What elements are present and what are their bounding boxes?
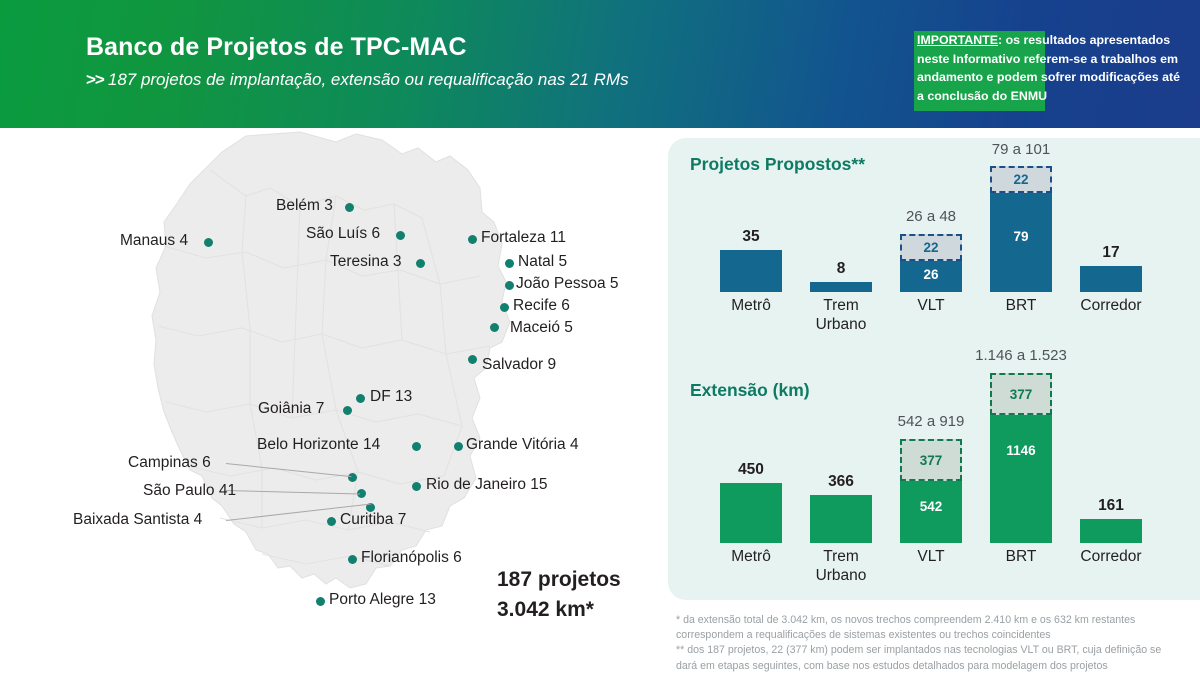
map-dot-belo-horizonte <box>412 442 421 451</box>
map-label-teresina: Teresina 3 <box>330 253 402 271</box>
map-dot-teresina <box>416 259 425 268</box>
footnote-line-1: * da extensão total de 3.042 km, os novo… <box>676 613 1196 628</box>
bar-vlt-km: 542 <box>900 481 962 543</box>
bar-brt-km-dashed-value: 377 <box>992 387 1050 402</box>
map-label-curitiba: Curitiba 7 <box>340 511 406 529</box>
map-label-rio-de-janeiro: Rio de Janeiro 15 <box>426 476 548 494</box>
charts-panel: Projetos Propostos** Extensão (km) 35 Me… <box>668 138 1200 600</box>
map-label-df: DF 13 <box>370 388 412 406</box>
map-label-sao-paulo: São Paulo 41 <box>143 482 236 500</box>
map-dot-maceio <box>490 323 499 332</box>
map-label-belem: Belém 3 <box>276 197 333 215</box>
map-label-grande-vitoria: Grande Vitória 4 <box>466 436 579 454</box>
bar-group-brt-km: 1.146 a 1.523 377 1146 BRT <box>982 389 1060 543</box>
map-label-maceio: Maceió 5 <box>510 319 573 337</box>
bar-trem-urbano-km <box>810 495 872 543</box>
bar-group-corredor-km: 161 Corredor <box>1072 389 1150 543</box>
map-label-sao-luis: São Luís 6 <box>306 225 380 243</box>
bar-category-metro-km: Metrô <box>712 547 790 566</box>
bar-group-vlt-km: 542 a 919 377 542 VLT <box>892 389 970 543</box>
bar-category-trem-urbano-km: TremUrbano <box>802 547 880 585</box>
infographic-root: Banco de Projetos de TPC-MAC >>187 proje… <box>0 0 1200 675</box>
bar-range-brt-km: 1.146 a 1.523 <box>946 347 1096 364</box>
footnote-line-3: ** dos 187 projetos, 22 (377 km) podem s… <box>676 643 1196 658</box>
bar-category-corredor-km: Corredor <box>1072 547 1150 566</box>
map-label-belo-horizonte: Belo Horizonte 14 <box>257 436 380 454</box>
page-header: Banco de Projetos de TPC-MAC >>187 proje… <box>0 0 1200 128</box>
important-notice: IMPORTANTE: os resultados apresentados n… <box>914 31 1186 113</box>
map-dot-curitiba <box>327 517 336 526</box>
map-dot-natal <box>505 259 514 268</box>
bar-value-trem-urbano-km: 366 <box>802 473 880 491</box>
bar-brt-km: 1146 <box>990 415 1052 543</box>
map-dot-sao-luis <box>396 231 405 240</box>
map-label-salvador: Salvador 9 <box>482 356 556 374</box>
map-dot-salvador <box>468 355 477 364</box>
footnotes: * da extensão total de 3.042 km, os novo… <box>676 613 1196 674</box>
map-label-recife: Recife 6 <box>513 297 570 315</box>
map-dot-recife <box>500 303 509 312</box>
notice-body: IMPORTANTE: os resultados apresentados n… <box>917 31 1187 105</box>
map-label-joao-pessoa: João Pessoa 5 <box>516 275 619 293</box>
map-label-campinas: Campinas 6 <box>128 454 211 472</box>
bar-category-vlt-km: VLT <box>892 547 970 566</box>
bar-value-metro-km: 450 <box>712 461 790 479</box>
footnote-line-4: dará em etapas seguintes, com base nos e… <box>676 659 1196 674</box>
bar-value-corredor-km: 161 <box>1072 497 1150 515</box>
page-subtitle: >>187 projetos de implantação, extensão … <box>86 70 629 90</box>
bar-vlt-km-value: 542 <box>900 499 962 514</box>
map-label-florianopolis: Florianópolis 6 <box>361 549 462 567</box>
summary-kilometers: 3.042 km* <box>497 595 621 625</box>
map-label-natal: Natal 5 <box>518 253 567 271</box>
chart-extensao-km: 450 Metrô 366 TremUrbano 542 a 919 377 5… <box>668 138 1200 600</box>
summary-projects: 187 projetos <box>497 565 621 595</box>
subtitle-text: 187 projetos de implantação, extensão ou… <box>108 70 629 89</box>
map-label-fortaleza: Fortaleza 11 <box>481 229 566 247</box>
bar-brt-km-dashed-segment: 377 <box>990 373 1052 415</box>
bar-brt-km-value: 1146 <box>990 443 1052 458</box>
bar-category-brt-km: BRT <box>982 547 1060 566</box>
chevron-marker: >> <box>86 70 104 89</box>
map-dot-porto-alegre <box>316 597 325 606</box>
map-dot-rio-de-janeiro <box>412 482 421 491</box>
map-label-porto-alegre: Porto Alegre 13 <box>329 591 436 609</box>
map-dot-df <box>356 394 365 403</box>
bar-metro-km <box>720 483 782 543</box>
map-dot-fortaleza <box>468 235 477 244</box>
notice-label: IMPORTANTE <box>917 33 998 47</box>
map-dot-belem <box>345 203 354 212</box>
map-dot-manaus <box>204 238 213 247</box>
bar-corredor-km <box>1080 519 1142 543</box>
map-dot-campinas <box>348 473 357 482</box>
map-summary: 187 projetos 3.042 km* <box>497 565 621 625</box>
bar-vlt-km-dashed-value: 377 <box>902 453 960 468</box>
map-label-baixada-santista: Baixada Santista 4 <box>73 511 202 529</box>
map-dot-florianopolis <box>348 555 357 564</box>
map-dot-joao-pessoa <box>505 281 514 290</box>
page-title: Banco de Projetos de TPC-MAC <box>86 33 467 62</box>
bar-group-metro-km: 450 Metrô <box>712 389 790 543</box>
map-label-manaus: Manaus 4 <box>120 232 188 250</box>
map-label-goiania: Goiânia 7 <box>258 400 324 418</box>
footnote-line-2: correspondem a requalificações de sistem… <box>676 628 1196 643</box>
map-dot-goiania <box>343 406 352 415</box>
bar-vlt-km-dashed-segment: 377 <box>900 439 962 481</box>
map-dot-grande-vitoria <box>454 442 463 451</box>
